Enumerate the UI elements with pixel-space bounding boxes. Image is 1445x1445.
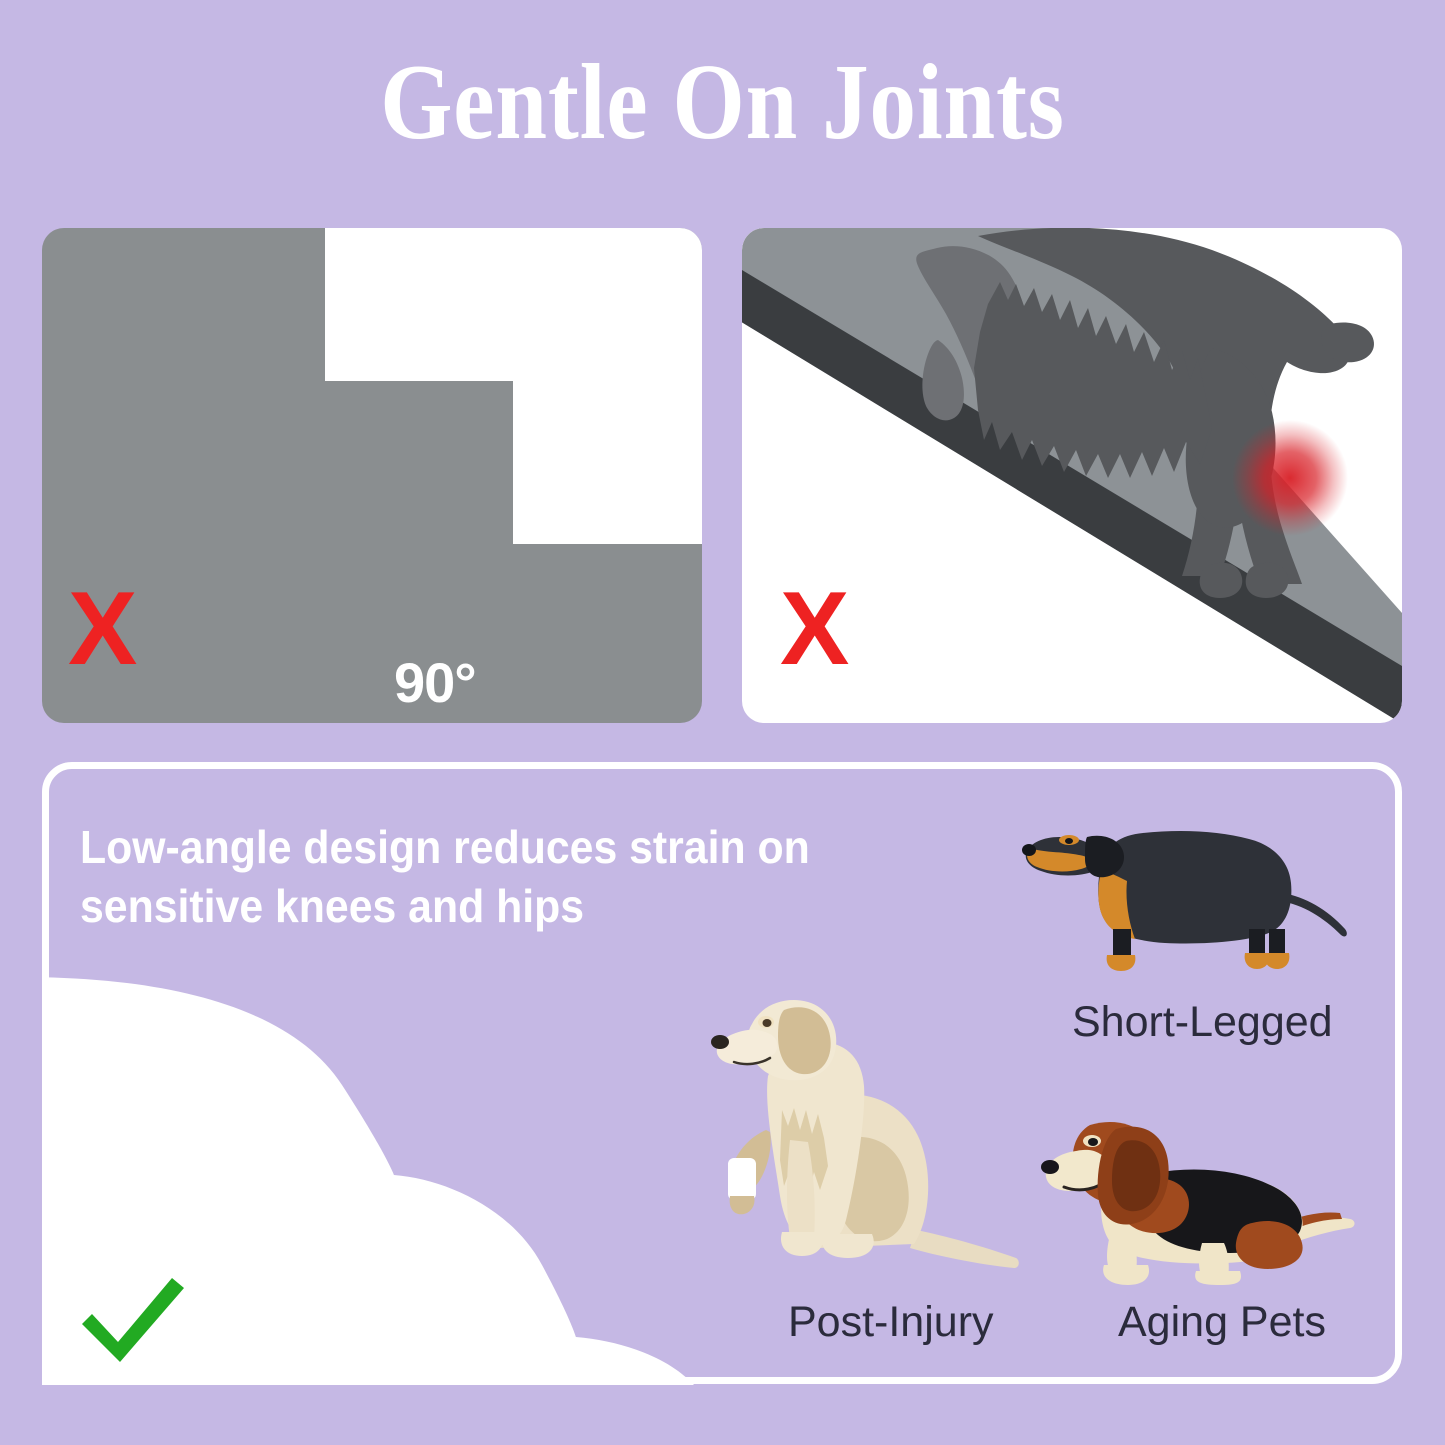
infographic-canvas: Gentle On Joints 90° X	[0, 0, 1445, 1445]
step-upper-tread	[325, 228, 702, 381]
benefit-headline: Low-angle design reduces strain on sensi…	[80, 818, 843, 936]
dachshund-illustration	[1005, 805, 1365, 995]
golden-retriever-illustration	[690, 980, 1020, 1280]
angle-label: 90°	[394, 650, 476, 715]
basset-hound-illustration	[1030, 1105, 1360, 1285]
hip-pain-glow	[1232, 420, 1348, 536]
red-x-icon-ramp: X	[780, 577, 849, 681]
green-check-icon	[72, 1262, 192, 1372]
paw-bandage	[728, 1158, 756, 1200]
page-title: Gentle On Joints	[101, 46, 1344, 159]
steep-step-panel: 90°	[42, 228, 702, 723]
pet-label-post-injury: Post-Injury	[788, 1298, 994, 1347]
pet-label-short-legged: Short-Legged	[1072, 998, 1333, 1047]
pet-label-aging-pets: Aging Pets	[1118, 1298, 1326, 1347]
step-lower-tread	[513, 381, 702, 544]
red-x-icon-step: X	[68, 577, 137, 681]
